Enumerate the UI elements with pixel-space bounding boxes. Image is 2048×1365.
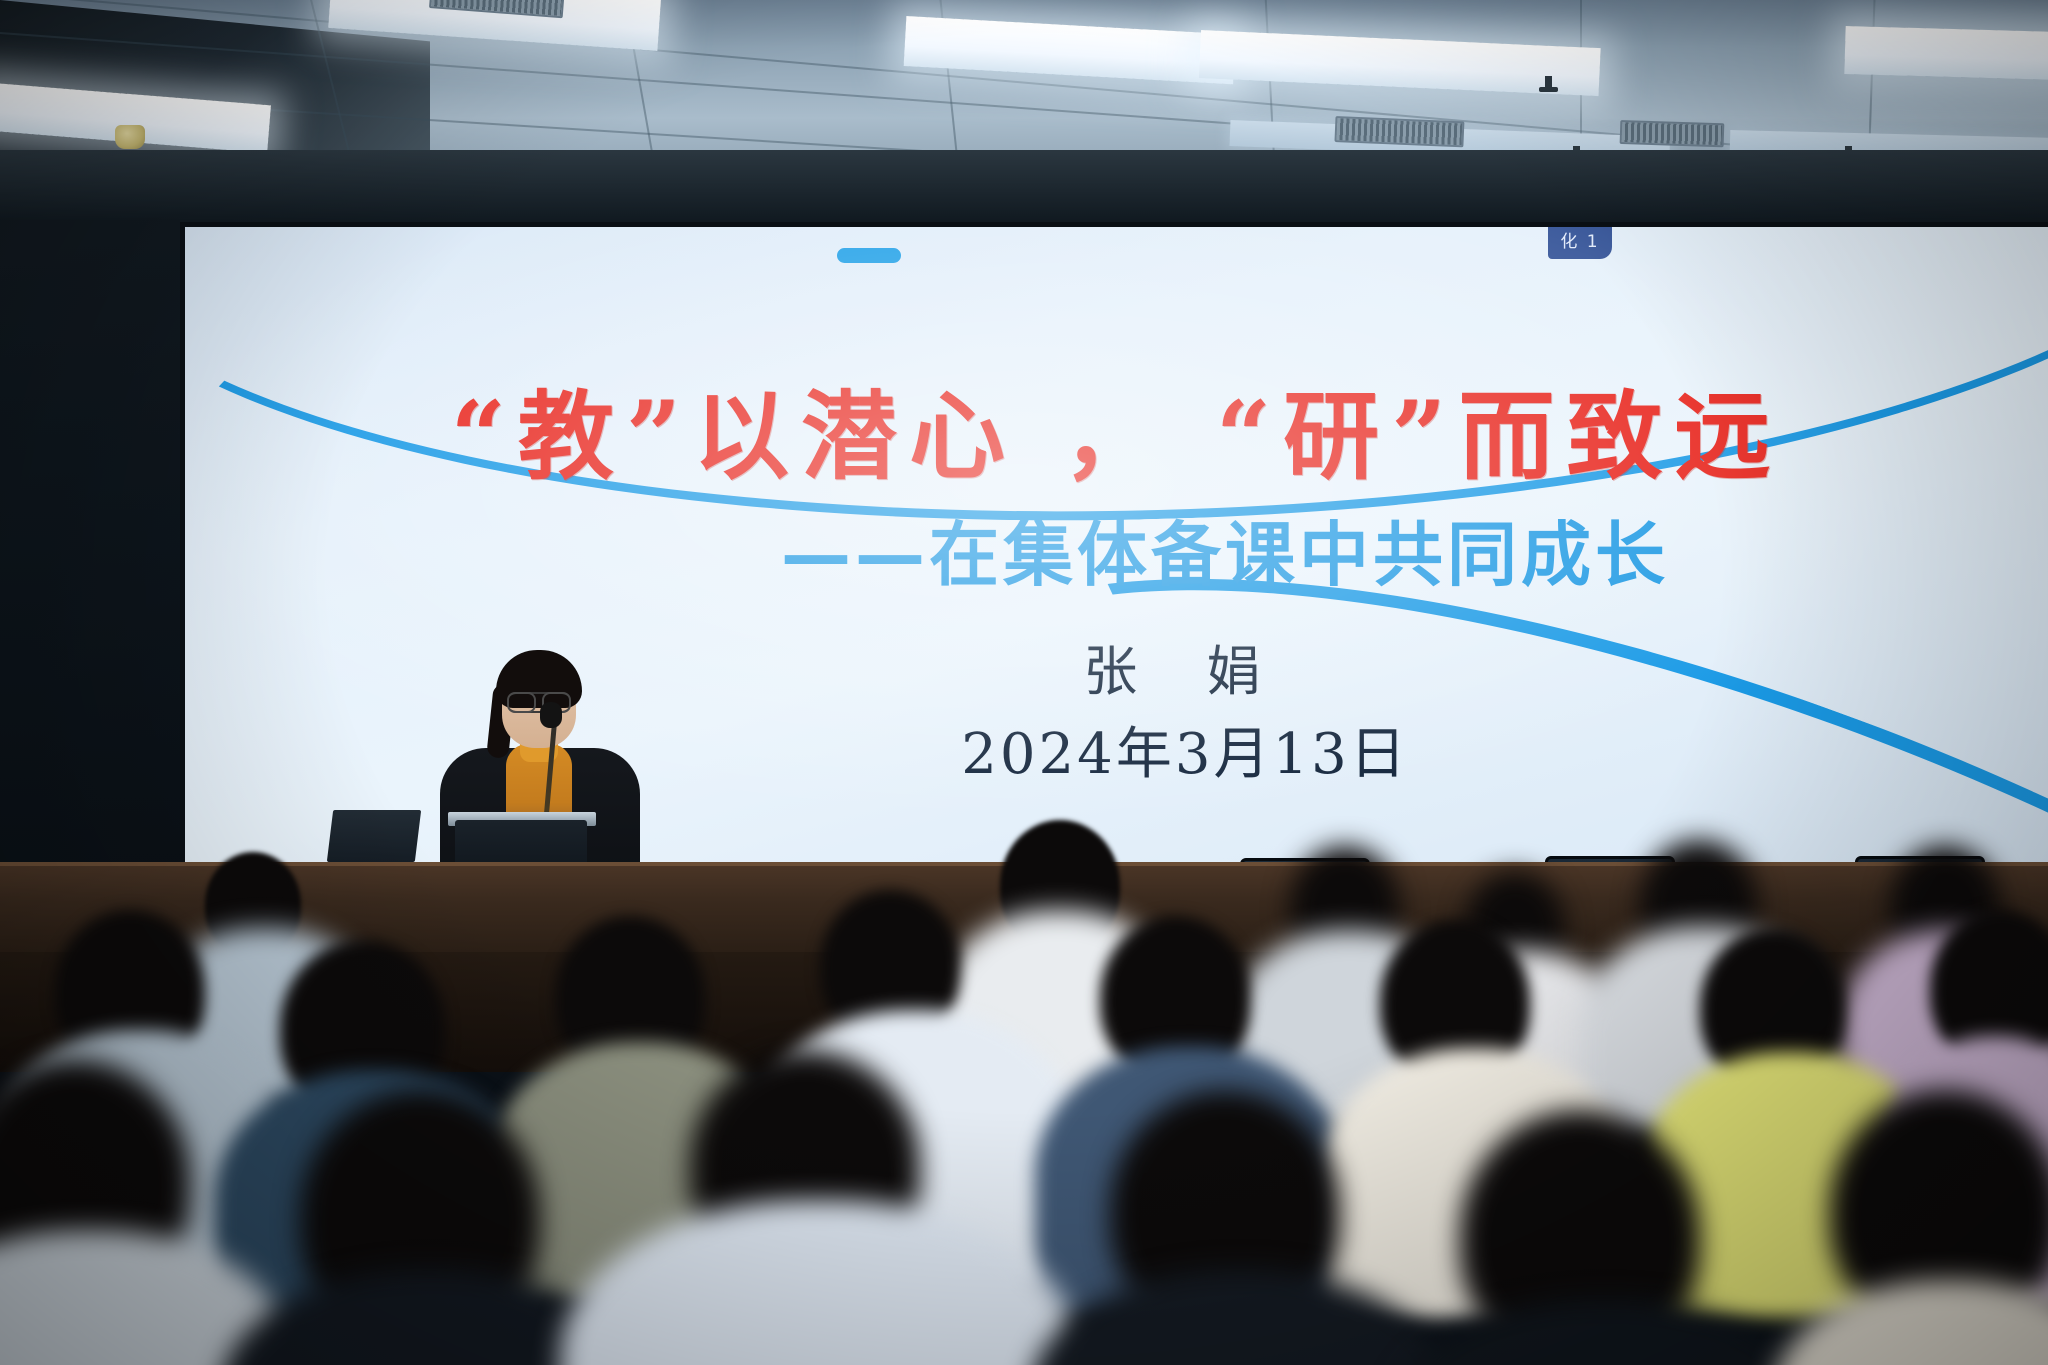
slide-subtitle: ——在集体备课中共同成长 [475, 499, 1975, 600]
microphone-icon [540, 702, 562, 728]
slide-corner-tag: 化 1 [1548, 227, 1612, 259]
slide-title: “教”以潜心 ， “研”而致远 [185, 359, 2048, 498]
ceiling-light-panel [1844, 26, 2048, 81]
wall-upper-shadow [0, 150, 2048, 220]
lecture-hall-photo: 化 1 “教”以潜心 ， “研”而致远 ——在集体备课中共同成长 张 娟 202… [0, 0, 2048, 1365]
smoke-detector-icon [115, 125, 145, 149]
ceiling-air-vent [1620, 120, 1725, 147]
audience-seating [0, 760, 2048, 1365]
sprinkler-head-icon [1545, 76, 1552, 90]
ceiling-air-vent [1334, 116, 1464, 147]
slide-pill-accent [837, 248, 901, 263]
slide-presenter-name: 张 娟 [525, 627, 1845, 706]
ceiling-light-panel [904, 16, 1236, 84]
